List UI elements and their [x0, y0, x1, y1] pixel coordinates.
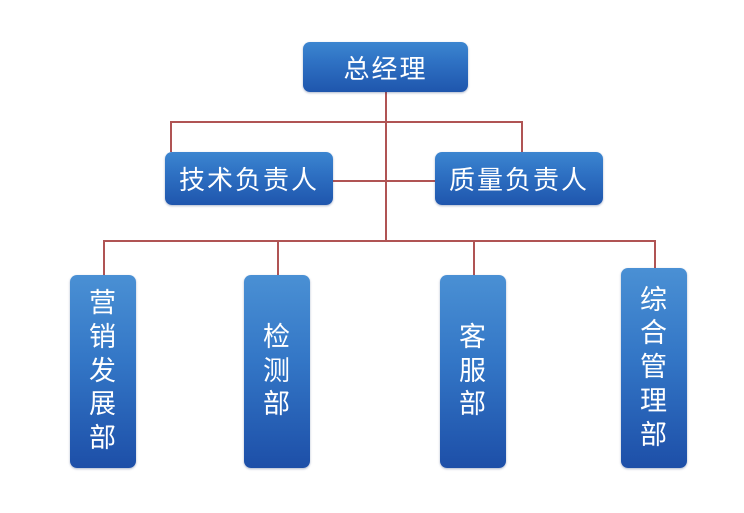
node-char: 合 [640, 317, 668, 351]
connector-level2-bracket-left-drop [170, 121, 172, 152]
node-char: 部 [89, 422, 117, 456]
node-label-quality-director: 质量负责人 [449, 160, 589, 197]
node-label-customer-service-dept: 客服部 [459, 321, 487, 422]
node-marketing-development-dept[interactable]: 营销发展部 [70, 275, 136, 468]
node-char: 营 [89, 287, 117, 321]
node-label-general-manager: 总经理 [343, 49, 427, 86]
node-char: 管 [640, 351, 668, 385]
node-char: 部 [459, 388, 487, 422]
node-label-general-management-dept: 综合管理部 [640, 284, 668, 453]
node-char: 服 [459, 355, 487, 389]
connector-quality-director-tie [386, 180, 436, 182]
node-label-technical-director: 技术负责人 [179, 160, 319, 197]
connector-level3-bus [103, 240, 655, 242]
node-char: 综 [640, 284, 668, 318]
connector-technical-director-tie [332, 180, 386, 182]
connector-drop-customer-service [473, 240, 475, 276]
node-general-manager[interactable]: 总经理 [303, 42, 468, 92]
connector-drop-general-management [654, 240, 656, 269]
node-char: 销 [89, 321, 117, 355]
node-technical-director[interactable]: 技术负责人 [165, 152, 333, 205]
node-label-marketing-development-dept: 营销发展部 [89, 287, 117, 456]
connector-drop-marketing [103, 240, 105, 276]
node-char: 展 [89, 388, 117, 422]
node-char: 检 [263, 321, 291, 355]
node-char: 部 [640, 419, 668, 453]
connector-spine-from-gm [385, 92, 387, 241]
node-char: 部 [263, 388, 291, 422]
connector-level2-bracket [170, 121, 521, 123]
node-char: 测 [263, 355, 291, 389]
org-chart-canvas: 总经理技术负责人质量负责人营销发展部检测部客服部综合管理部 [0, 0, 744, 513]
connector-level2-bracket-right-drop [521, 121, 523, 152]
node-label-testing-dept: 检测部 [263, 321, 291, 422]
node-general-management-dept[interactable]: 综合管理部 [621, 268, 687, 468]
node-char: 客 [459, 321, 487, 355]
connector-drop-testing [277, 240, 279, 276]
node-quality-director[interactable]: 质量负责人 [435, 152, 603, 205]
node-customer-service-dept[interactable]: 客服部 [440, 275, 506, 468]
node-char: 发 [89, 355, 117, 389]
node-char: 理 [640, 385, 668, 419]
node-testing-dept[interactable]: 检测部 [244, 275, 310, 468]
